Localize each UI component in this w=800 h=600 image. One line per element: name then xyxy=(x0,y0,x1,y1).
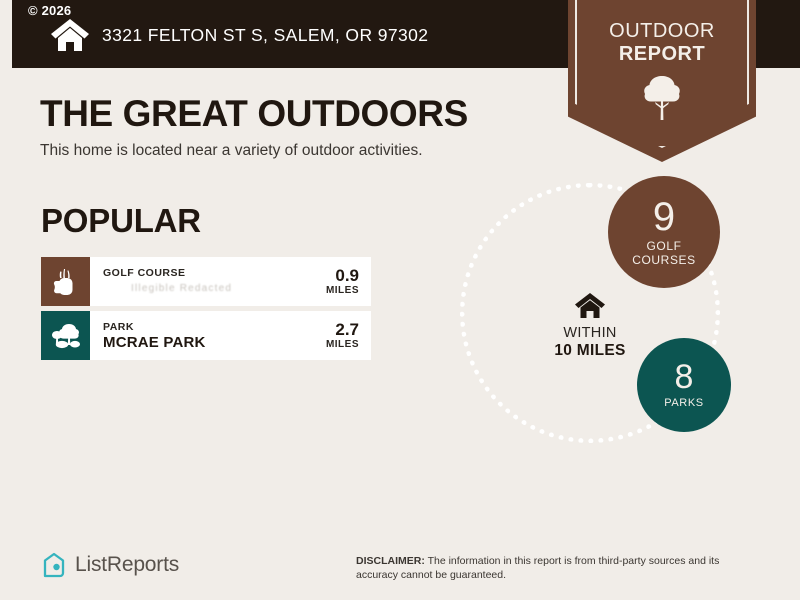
poi-icon-container xyxy=(41,257,90,306)
stat-number: 9 xyxy=(653,197,675,237)
poi-name: MCRAE PARK xyxy=(103,334,287,351)
property-address: 3321 FELTON ST S, SALEM, OR 97302 xyxy=(102,25,428,46)
poi-distance-unit: MILES xyxy=(326,339,359,351)
listreports-logo[interactable]: ListReports xyxy=(42,552,179,578)
badge-title-line2: REPORT xyxy=(568,43,756,66)
outdoor-report-page: © 2026 3321 FELTON ST S, SALEM, OR 97302… xyxy=(0,0,800,600)
poi-category: GOLF COURSE xyxy=(103,267,287,280)
tree-icon xyxy=(642,74,682,122)
within-radius-marker: WITHIN 10 MILES xyxy=(532,292,648,360)
page-title: THE GREAT OUTDOORS xyxy=(40,93,468,135)
stat-circle-golf-courses[interactable]: 9 GOLF COURSES xyxy=(608,176,720,288)
stat-circle-parks[interactable]: 8 PARKS xyxy=(637,338,731,432)
page-subtitle: This home is located near a variety of o… xyxy=(40,142,423,160)
popular-section-title: POPULAR xyxy=(41,202,201,240)
outdoor-report-badge: OUTDOOR REPORT xyxy=(568,0,756,162)
stat-label-line2: COURSES xyxy=(632,254,696,268)
listreports-logo-icon xyxy=(42,552,66,578)
copyright-label: © 2026 xyxy=(28,3,71,18)
poi-distance: 0.9 MILES xyxy=(287,257,371,306)
popular-list: GOLF COURSE Illegible Redacted 0.9 MILES xyxy=(41,257,371,365)
disclaimer-label: DISCLAIMER: xyxy=(356,555,425,567)
disclaimer: DISCLAIMER: The information in this repo… xyxy=(356,554,764,582)
badge-title-line1: OUTDOOR xyxy=(568,20,756,43)
poi-distance-value: 0.9 xyxy=(335,267,359,285)
poi-name: Illegible Redacted xyxy=(103,280,287,297)
home-icon xyxy=(574,292,606,319)
poi-distance: 2.7 MILES xyxy=(287,311,371,360)
poi-distance-unit: MILES xyxy=(326,285,359,297)
stat-label-line1: GOLF xyxy=(632,240,696,254)
poi-category: PARK xyxy=(103,321,287,334)
within-radius-value: 10 MILES xyxy=(532,342,648,360)
stat-label: PARKS xyxy=(664,397,703,411)
stat-number: 8 xyxy=(675,360,694,394)
proximity-visualization: WITHIN 10 MILES 9 GOLF COURSES 8 PARKS xyxy=(440,170,780,480)
within-label: WITHIN xyxy=(532,325,648,342)
list-item[interactable]: GOLF COURSE Illegible Redacted 0.9 MILES xyxy=(41,257,371,306)
poi-text-block: PARK MCRAE PARK xyxy=(90,311,287,360)
poi-distance-value: 2.7 xyxy=(335,321,359,339)
listreports-brand-text: ListReports xyxy=(75,553,179,577)
park-trees-icon xyxy=(51,323,81,349)
poi-text-block: GOLF COURSE Illegible Redacted xyxy=(90,257,287,306)
stat-label: GOLF COURSES xyxy=(632,240,696,267)
home-icon xyxy=(50,18,90,52)
list-item[interactable]: PARK MCRAE PARK 2.7 MILES xyxy=(41,311,371,360)
poi-icon-container xyxy=(41,311,90,360)
golf-bag-icon xyxy=(53,268,79,296)
